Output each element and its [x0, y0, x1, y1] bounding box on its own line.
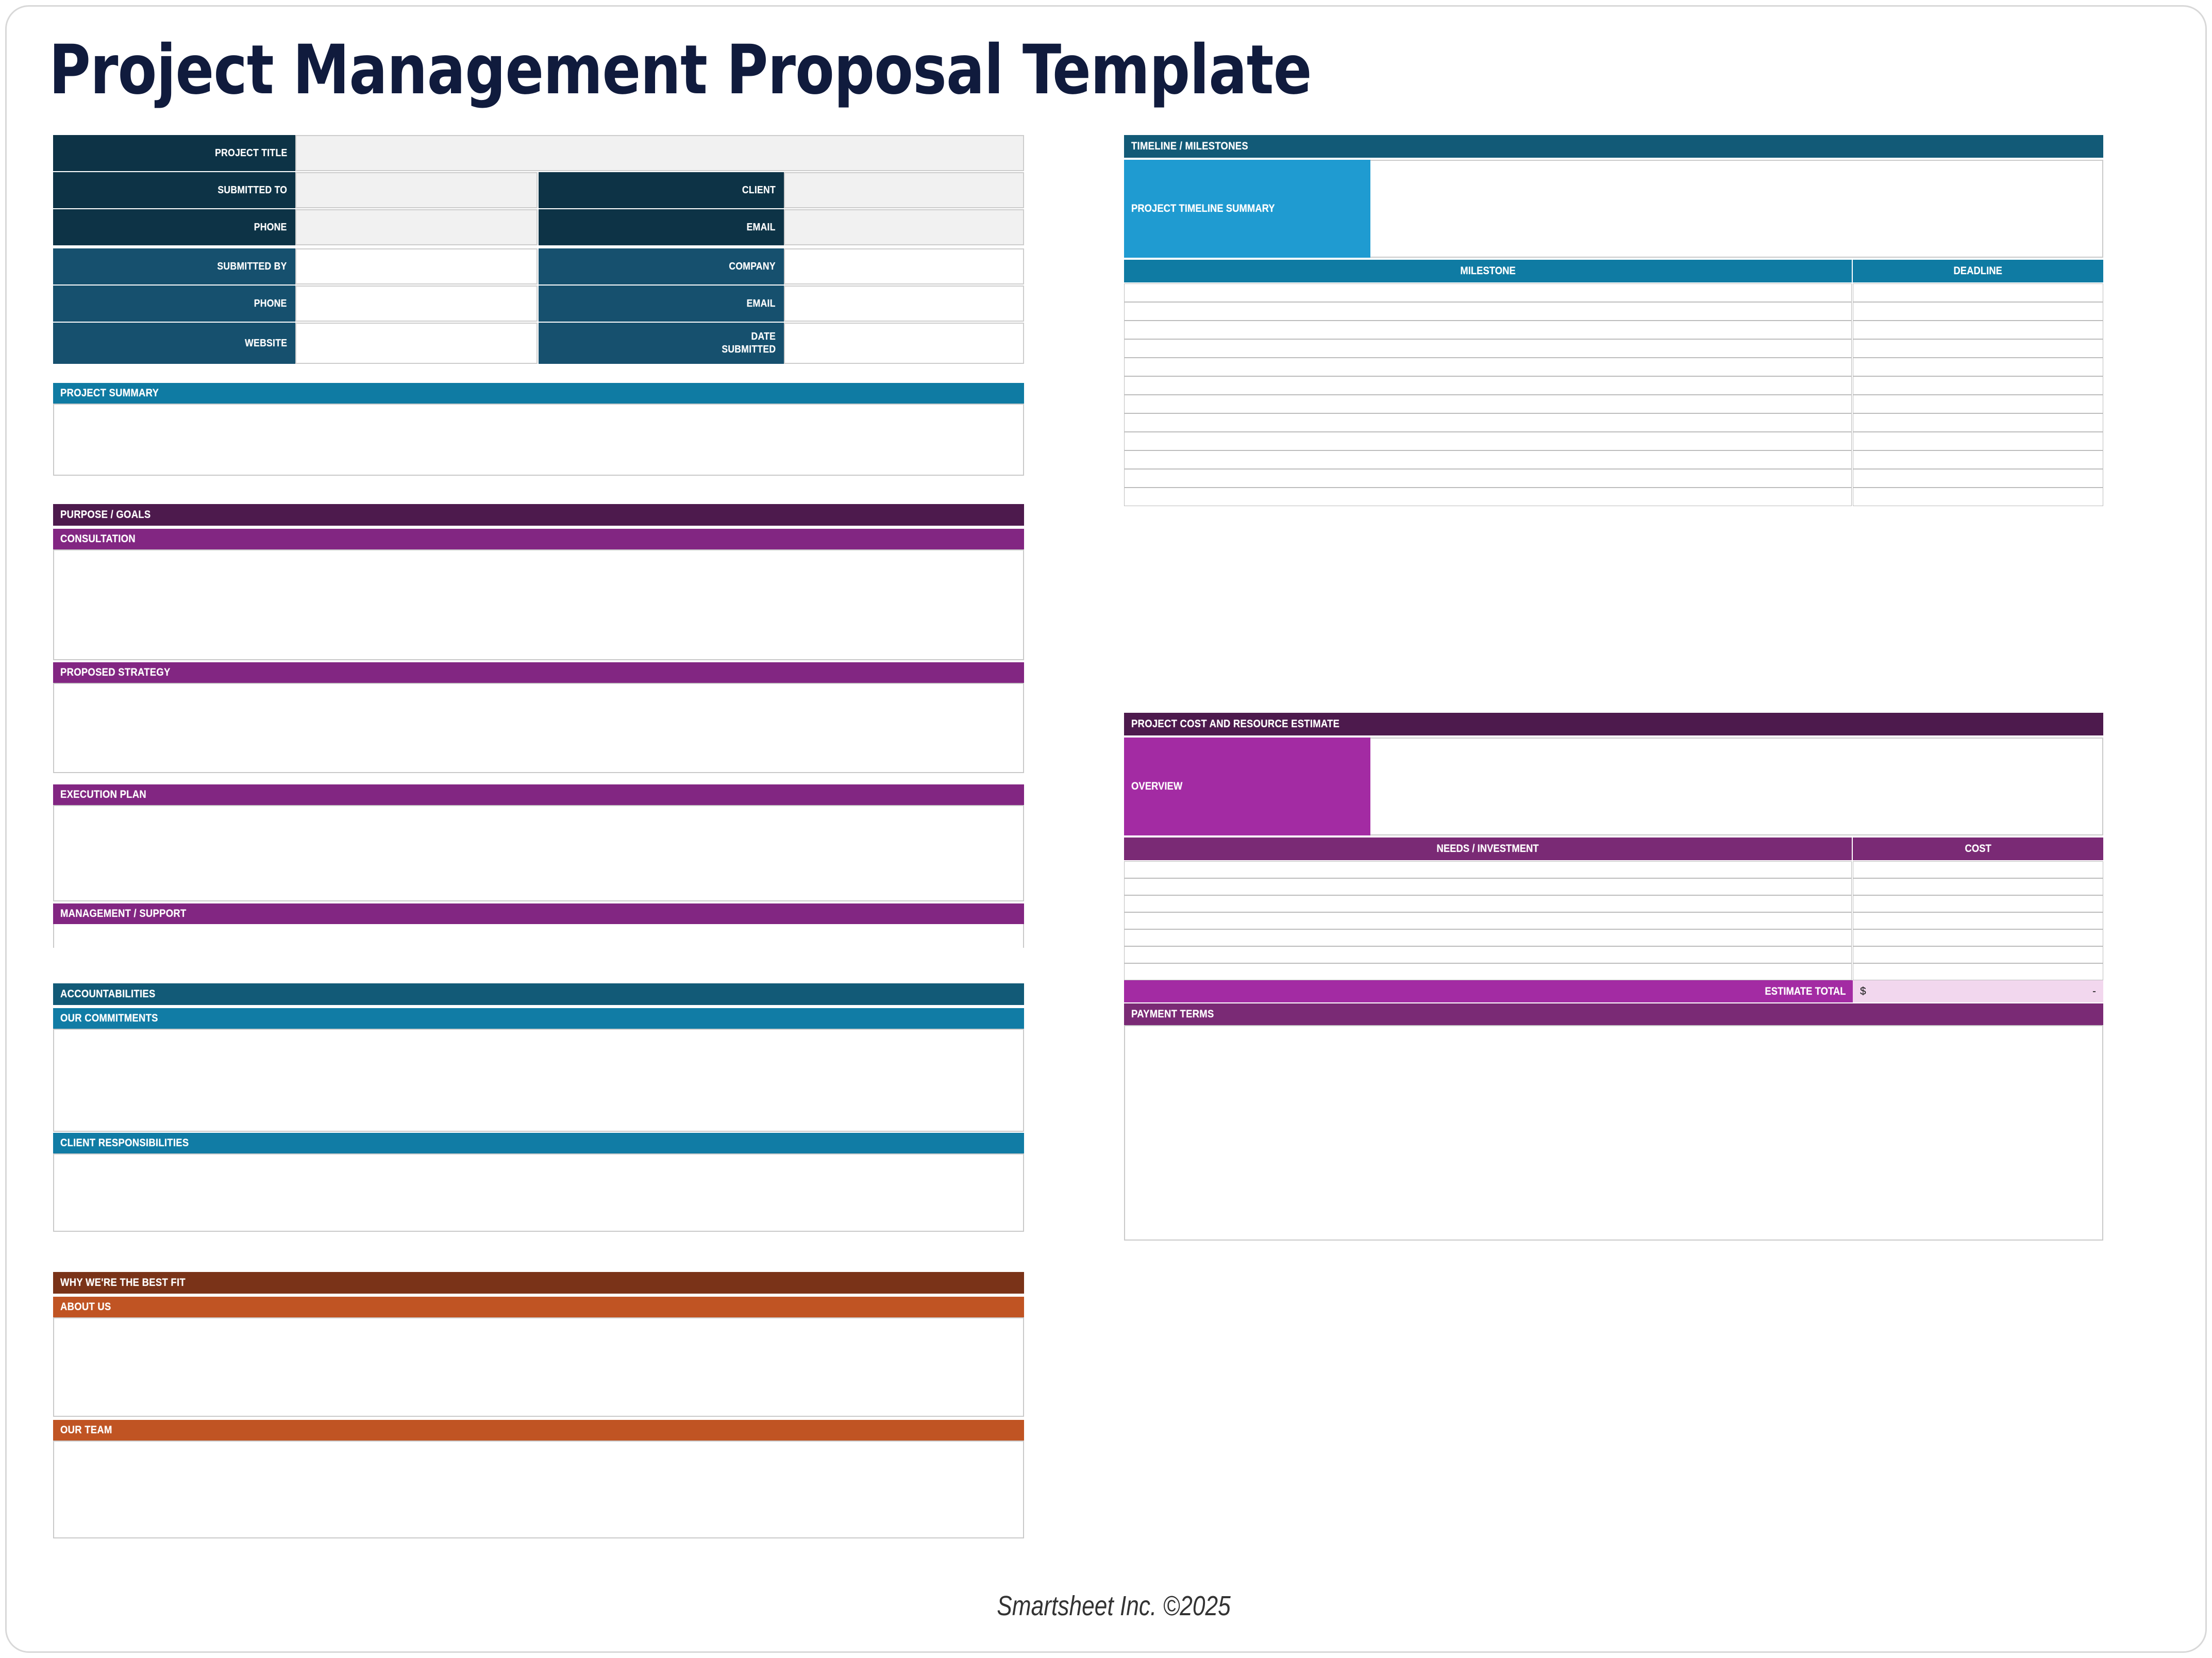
- form-label-client-text: CLIENT: [742, 184, 776, 197]
- table-row[interactable]: [1124, 302, 1852, 321]
- form-input-phone-to[interactable]: [295, 209, 538, 245]
- timeline-column-header-deadline: DEADLINE: [1853, 260, 2103, 282]
- table-row[interactable]: [1853, 946, 2103, 963]
- subsection-header-client-responsibilities: CLIENT RESPONSIBILITIES: [53, 1133, 1024, 1153]
- section-body-payment-terms[interactable]: [1124, 1025, 2103, 1241]
- table-row[interactable]: [1124, 376, 1852, 395]
- section-header-cost-estimate: PROJECT COST AND RESOURCE ESTIMATE: [1124, 713, 2103, 735]
- subsection-header-proposed-strategy: PROPOSED STRATEGY: [53, 662, 1024, 683]
- section-header-cost-estimate-text: PROJECT COST AND RESOURCE ESTIMATE: [1131, 718, 1339, 730]
- form-label-phone-by: PHONE: [53, 286, 295, 322]
- section-header-best-fit-text: WHY WE'RE THE BEST FIT: [60, 1277, 186, 1289]
- form-label-email-by: EMAIL: [539, 286, 784, 322]
- table-row[interactable]: [1853, 912, 2103, 929]
- form-label-submitted-to-text: SUBMITTED TO: [217, 184, 287, 197]
- form-label-phone-by-text: PHONE: [254, 297, 287, 310]
- table-row[interactable]: [1124, 878, 1852, 895]
- table-row[interactable]: [1124, 929, 1852, 946]
- form-label-company-text: COMPANY: [729, 260, 776, 273]
- form-label-email-to: EMAIL: [539, 209, 784, 245]
- form-label-submitted-to: SUBMITTED TO: [53, 172, 295, 208]
- table-row[interactable]: [1124, 861, 1852, 878]
- cost-overview-body[interactable]: [1370, 738, 2103, 835]
- page-frame: Project Management Proposal Template PRO…: [5, 5, 2207, 1653]
- section-header-payment-terms-text: PAYMENT TERMS: [1131, 1008, 1214, 1020]
- table-row[interactable]: [1124, 339, 1852, 358]
- form-label-phone-to: PHONE: [53, 209, 295, 245]
- cost-column-header-needs: NEEDS / INVESTMENT: [1124, 838, 1852, 860]
- footer-credit: Smartsheet Inc. ©2025: [962, 1590, 1266, 1622]
- form-input-phone-by[interactable]: [295, 286, 538, 322]
- table-row[interactable]: [1853, 450, 2103, 469]
- subsection-header-consultation: CONSULTATION: [53, 529, 1024, 549]
- section-header-accountabilities-text: ACCOUNTABILITIES: [60, 988, 156, 1000]
- subsection-header-about-us-text: ABOUT US: [60, 1301, 111, 1313]
- table-row[interactable]: [1124, 321, 1852, 339]
- form-input-company[interactable]: [784, 248, 1024, 284]
- table-row[interactable]: [1124, 946, 1852, 963]
- estimate-total-value[interactable]: $ -: [1853, 980, 2103, 1002]
- form-label-submitted-by-text: SUBMITTED BY: [217, 260, 287, 273]
- form-label-project-title: PROJECT TITLE: [53, 135, 295, 171]
- timeline-summary-label: PROJECT TIMELINE SUMMARY: [1124, 160, 1370, 258]
- estimate-total-label-text: ESTIMATE TOTAL: [1765, 985, 1846, 998]
- table-row[interactable]: [1853, 302, 2103, 321]
- timeline-summary-body[interactable]: [1370, 160, 2103, 258]
- form-input-project-title[interactable]: [295, 135, 1024, 171]
- form-input-email-to[interactable]: [784, 209, 1024, 245]
- table-row[interactable]: [1853, 432, 2103, 450]
- page-title: Project Management Proposal Template: [49, 31, 1312, 109]
- subsection-header-management-support: MANAGEMENT / SUPPORT: [53, 903, 1024, 924]
- subsection-header-client-responsibilities-text: CLIENT RESPONSIBILITIES: [60, 1137, 189, 1149]
- table-row[interactable]: [1853, 395, 2103, 413]
- section-header-timeline-text: TIMELINE / MILESTONES: [1131, 140, 1248, 153]
- subsection-header-proposed-strategy-text: PROPOSED STRATEGY: [60, 666, 171, 679]
- subsection-header-our-team: OUR TEAM: [53, 1420, 1024, 1441]
- form-label-submitted-by: SUBMITTED BY: [53, 248, 295, 284]
- table-row[interactable]: [1124, 450, 1852, 469]
- subsection-header-our-commitments: OUR COMMITMENTS: [53, 1008, 1024, 1029]
- table-row[interactable]: [1853, 929, 2103, 946]
- cost-overview-label: OVERVIEW: [1124, 738, 1370, 835]
- section-header-accountabilities: ACCOUNTABILITIES: [53, 983, 1024, 1005]
- table-row[interactable]: [1124, 469, 1852, 488]
- form-label-email-to-text: EMAIL: [747, 221, 776, 234]
- table-row[interactable]: [1124, 488, 1852, 506]
- table-row[interactable]: [1853, 488, 2103, 506]
- table-row[interactable]: [1853, 413, 2103, 432]
- table-row[interactable]: [1853, 963, 2103, 980]
- subsection-body-proposed-strategy[interactable]: [53, 683, 1024, 773]
- form-input-date-submitted[interactable]: [784, 323, 1024, 364]
- form-label-date-submitted-line2: SUBMITTED: [722, 343, 776, 356]
- subsection-body-about-us[interactable]: [53, 1317, 1024, 1417]
- form-input-client[interactable]: [784, 172, 1024, 208]
- form-label-client: CLIENT: [539, 172, 784, 208]
- table-row[interactable]: [1124, 413, 1852, 432]
- cost-overview-label-text: OVERVIEW: [1131, 780, 1182, 793]
- cost-column-header-needs-text: NEEDS / INVESTMENT: [1437, 843, 1539, 855]
- table-row[interactable]: [1124, 912, 1852, 929]
- cost-column-header-cost-text: COST: [1965, 843, 1991, 855]
- form-input-website[interactable]: [295, 323, 538, 364]
- form-label-phone-to-text: PHONE: [254, 221, 287, 234]
- subsection-body-management-support[interactable]: [53, 924, 1024, 948]
- section-header-purpose-goals: PURPOSE / GOALS: [53, 504, 1024, 526]
- timeline-column-header-deadline-text: DEADLINE: [1954, 265, 2002, 277]
- table-row[interactable]: [1124, 283, 1852, 302]
- form-label-website-text: WEBSITE: [245, 337, 287, 350]
- form-input-submitted-by[interactable]: [295, 248, 538, 284]
- table-row[interactable]: [1853, 376, 2103, 395]
- timeline-summary-label-text: PROJECT TIMELINE SUMMARY: [1131, 203, 1275, 215]
- subsection-header-about-us: ABOUT US: [53, 1297, 1024, 1317]
- subsection-header-management-support-text: MANAGEMENT / SUPPORT: [60, 908, 187, 920]
- section-body-project-summary[interactable]: [53, 404, 1024, 476]
- subsection-header-execution-plan-text: EXECUTION PLAN: [60, 789, 146, 801]
- form-label-date-submitted: DATE SUBMITTED: [539, 323, 784, 364]
- subsection-header-our-commitments-text: OUR COMMITMENTS: [60, 1012, 158, 1025]
- form-label-project-title-text: PROJECT TITLE: [215, 147, 287, 160]
- section-header-project-summary-text: PROJECT SUMMARY: [60, 387, 159, 399]
- subsection-body-our-commitments[interactable]: [53, 1029, 1024, 1132]
- subsection-body-execution-plan[interactable]: [53, 805, 1024, 901]
- table-row[interactable]: [1124, 895, 1852, 912]
- timeline-column-header-milestone-text: MILESTONE: [1460, 265, 1515, 277]
- subsection-header-consultation-text: CONSULTATION: [60, 533, 136, 545]
- table-row[interactable]: [1124, 358, 1852, 376]
- table-row[interactable]: [1853, 283, 2103, 302]
- estimate-total-amount: -: [2092, 985, 2096, 998]
- form-label-company: COMPANY: [539, 248, 784, 284]
- section-header-purpose-goals-text: PURPOSE / GOALS: [60, 509, 150, 521]
- table-row[interactable]: [1853, 321, 2103, 339]
- estimate-total-label: ESTIMATE TOTAL: [1124, 980, 1853, 1002]
- subsection-body-client-responsibilities[interactable]: [53, 1153, 1024, 1232]
- table-row[interactable]: [1853, 358, 2103, 376]
- form-label-date-submitted-line1: DATE: [751, 330, 776, 343]
- subsection-body-our-team[interactable]: [53, 1441, 1024, 1538]
- section-header-project-summary: PROJECT SUMMARY: [53, 383, 1024, 404]
- section-header-best-fit: WHY WE'RE THE BEST FIT: [53, 1272, 1024, 1294]
- form-label-email-by-text: EMAIL: [747, 297, 776, 310]
- table-row[interactable]: [1853, 469, 2103, 488]
- section-header-timeline: TIMELINE / MILESTONES: [1124, 135, 2103, 158]
- table-row[interactable]: [1124, 963, 1852, 980]
- table-row[interactable]: [1124, 395, 1852, 413]
- estimate-total-currency: $: [1860, 985, 1866, 998]
- table-row[interactable]: [1124, 432, 1852, 450]
- table-row[interactable]: [1853, 895, 2103, 912]
- timeline-column-header-milestone: MILESTONE: [1124, 260, 1852, 282]
- subsection-body-consultation[interactable]: [53, 549, 1024, 660]
- table-row[interactable]: [1853, 861, 2103, 878]
- form-input-email-by[interactable]: [784, 286, 1024, 322]
- form-label-website: WEBSITE: [53, 323, 295, 364]
- section-header-payment-terms: PAYMENT TERMS: [1124, 1003, 2103, 1025]
- table-row[interactable]: [1853, 339, 2103, 358]
- subsection-header-execution-plan: EXECUTION PLAN: [53, 784, 1024, 805]
- cost-column-header-cost: COST: [1853, 838, 2103, 860]
- form-input-submitted-to[interactable]: [295, 172, 538, 208]
- subsection-header-our-team-text: OUR TEAM: [60, 1424, 112, 1436]
- table-row[interactable]: [1853, 878, 2103, 895]
